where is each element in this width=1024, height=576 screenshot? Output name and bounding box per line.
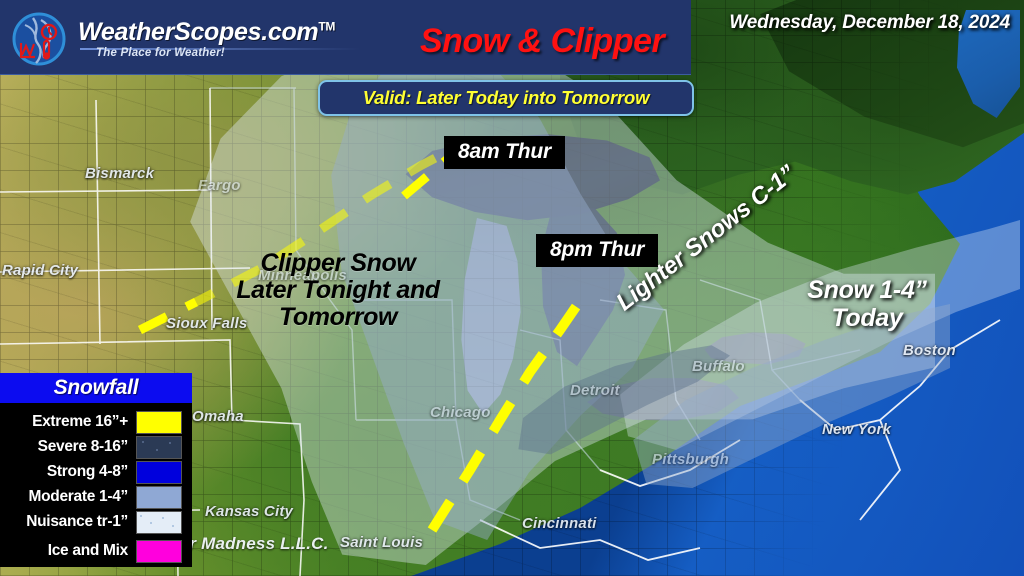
legend-color-swatch [136,486,182,509]
city-label: Rapid City [2,262,78,279]
city-label: Chicago [430,404,491,421]
legend-row-label: Severe 8-16” [38,438,128,456]
legend-row-label: Nuisance tr-1” [26,513,128,531]
legend-row-label: Strong 4-8” [47,463,128,481]
city-label: Omaha [192,408,244,425]
city-label: Bismarck [85,165,154,182]
brand-name: WeatherScopes.comTM [78,18,335,47]
weather-map-graphic: BismarckFargoRapid CitySioux FallsMinnea… [0,0,1024,576]
trademark-symbol: TM [318,20,335,34]
valid-period-text: Valid: Later Today into Tomorrow [363,87,650,109]
annotation-clipper-snow: Clipper Snow Later Tonight and Tomorrow [228,250,448,331]
snowfall-legend: Snowfall Extreme 16”+Severe 8-16”Strong … [0,373,192,567]
legend-color-swatch [136,436,182,459]
city-label: Fargo [198,177,241,194]
city-label: Cincinnati [522,515,597,532]
legend-row-label: Extreme 16”+ [32,413,128,431]
valid-period-banner: Valid: Later Today into Tomorrow [318,80,694,116]
brand-text: WeatherScopes.com [78,18,318,46]
legend-row: Extreme 16”+ [0,411,192,433]
legend-row: Moderate 1-4” [0,486,192,508]
city-label: Pittsburgh [652,451,729,468]
forecast-time-tag-8am: 8am Thur [444,136,565,169]
legend-row-label: Moderate 1-4” [29,488,128,506]
legend-color-swatch [136,540,182,563]
legend-color-swatch [136,511,182,534]
legend-color-swatch [136,461,182,484]
city-label: Buffalo [692,358,745,375]
legend-row-list: Extreme 16”+Severe 8-16”Strong 4-8”Moder… [0,403,192,562]
legend-row: Severe 8-16” [0,436,192,458]
city-label: Boston [903,342,956,359]
legend-row: Ice and Mix [0,540,192,562]
city-label: Detroit [570,382,620,399]
legend-color-swatch [136,411,182,434]
page-title: Snow & Clipper [420,22,664,61]
brand-tagline: The Place for Weather! [96,47,225,59]
city-label: Saint Louis [340,534,423,551]
forecast-time-tag-8pm: 8pm Thur [536,234,658,267]
legend-row-label: Ice and Mix [48,542,128,560]
globe-weather-logo-icon[interactable] [11,11,67,67]
city-label: Kansas City [205,503,293,520]
legend-row: Nuisance tr-1” [0,511,192,533]
date-label: Wednesday, December 18, 2024 [729,12,1010,34]
annotation-snow-today: Snow 1-4” Today [782,276,952,332]
legend-title-text: Snowfall [54,376,139,400]
header-panel: WeatherScopes.comTM The Place for Weathe… [0,0,691,75]
legend-title-bar: Snowfall [0,373,192,403]
legend-row: Strong 4-8” [0,461,192,483]
city-label: New York [822,421,891,438]
